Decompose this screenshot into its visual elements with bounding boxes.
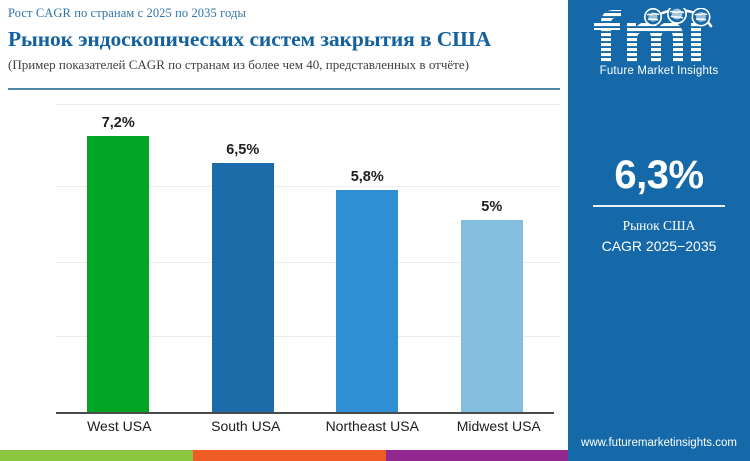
brand-panel: Future Market Insights 6,3% Рынок США CA… [568, 0, 750, 461]
bar-south-usa[interactable] [212, 163, 274, 412]
bar-group-west-usa[interactable]: 7,2% [56, 96, 181, 412]
kicker-text: Рост CAGR по странам с 2025 по 2035 годы [8, 6, 560, 21]
strip-segment-green [0, 450, 193, 461]
subtitle-text: (Пример показателей CAGR по странам из б… [8, 57, 560, 73]
fmi-logo-caption: Future Market Insights [600, 65, 719, 77]
bar-group-south-usa[interactable]: 6,5% [181, 96, 306, 412]
stat-value: 6,3% [568, 155, 750, 195]
infographic-canvas: Рост CAGR по странам с 2025 по 2035 годы… [0, 0, 750, 461]
x-tick-south-usa: South USA [183, 418, 310, 434]
stat-label-market: Рынок США [568, 216, 750, 236]
header-divider [8, 88, 560, 90]
x-tick-midwest-usa: Midwest USA [436, 418, 563, 434]
bar-value-label: 5% [481, 199, 502, 215]
bar-value-label: 7,2% [102, 115, 135, 131]
bar-northeast-usa[interactable] [336, 190, 398, 412]
x-axis-labels: West USA South USA Northeast USA Midwest… [56, 418, 562, 434]
stat-divider [593, 205, 725, 207]
bar-value-label: 5,8% [351, 169, 384, 185]
chart-panel: Рост CAGR по странам с 2025 по 2035 годы… [0, 0, 568, 461]
color-strip [0, 450, 568, 461]
bar-group-midwest-usa[interactable]: 5% [430, 96, 555, 412]
bar-group-northeast-usa[interactable]: 5,8% [305, 96, 430, 412]
stat-label-period: CAGR 2025−2035 [568, 236, 750, 257]
website-url[interactable]: www.futuremarketinsights.com [568, 437, 750, 449]
x-tick-northeast-usa: Northeast USA [309, 418, 436, 434]
bar-midwest-usa[interactable] [461, 220, 523, 412]
plot-area: 7,2% 6,5% 5,8% 5% [8, 96, 560, 414]
bar-series: 7,2% 6,5% 5,8% 5% [56, 96, 554, 412]
fmi-logo[interactable]: Future Market Insights [568, 8, 750, 84]
fmi-logo-mark [591, 8, 727, 64]
x-tick-west-usa: West USA [56, 418, 183, 434]
stat-block: 6,3% Рынок США CAGR 2025−2035 [568, 155, 750, 257]
x-axis-line [56, 412, 554, 414]
fmi-logo-icon [591, 8, 727, 64]
strip-segment-orange [193, 450, 386, 461]
strip-segment-purple [386, 450, 568, 461]
header-block: Рост CAGR по странам с 2025 по 2035 годы… [8, 6, 560, 73]
page-title: Рынок эндоскопических систем закрытия в … [8, 27, 560, 52]
bar-value-label: 6,5% [226, 142, 259, 158]
bar-west-usa[interactable] [87, 136, 149, 412]
